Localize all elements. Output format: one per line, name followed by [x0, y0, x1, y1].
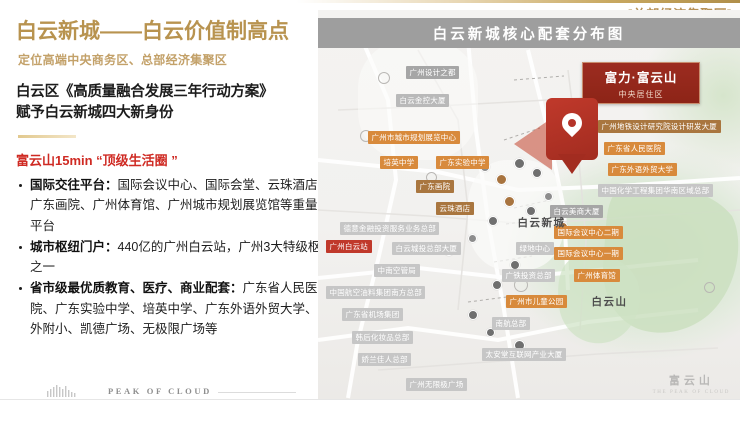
footer-divider: [0, 399, 740, 400]
map-label[interactable]: 广州无限极广场: [406, 378, 467, 391]
policy-statement-line2: 赋予白云新城四大新身份: [16, 103, 342, 124]
map-label[interactable]: 广州设计之都: [406, 66, 459, 79]
map-label[interactable]: 韩后化妆品总部: [352, 331, 413, 344]
map-label[interactable]: 白云山: [588, 294, 631, 310]
map-label[interactable]: 云珠酒店: [436, 202, 474, 215]
map-poi-dot[interactable]: [468, 234, 477, 243]
marker-tail: [558, 154, 586, 174]
map-label[interactable]: 太安堂互联网产业大厦: [482, 348, 566, 361]
mountain-logo-icon: [46, 384, 102, 397]
hero-project-subtitle: 中央居住区: [619, 89, 664, 100]
watermark-title: 富云山: [653, 372, 730, 388]
map-poi-dot[interactable]: [544, 192, 553, 201]
brand-logo: PEAK OF CLOUD: [46, 384, 296, 397]
watermark: 富云山 THE PEAK OF CLOUD: [653, 372, 730, 395]
policy-statement: 白云区《高质量融合发展三年行动方案》 赋予白云新城四大新身份: [16, 82, 342, 124]
map-label[interactable]: 广州体育馆: [574, 269, 620, 282]
page-subtitle: 定位高端中央商务区、总部经济集聚区: [18, 51, 342, 68]
list-item: 省市级最优质教育、医疗、商业配套：广东省人民医院、广东实验中学、培英中学、广东外…: [16, 278, 342, 339]
map-label[interactable]: 广州白云站: [326, 240, 372, 253]
map-label[interactable]: 南航总部: [492, 317, 530, 330]
map-poi-ring[interactable]: [378, 72, 390, 84]
map-label[interactable]: 绿地中心: [516, 242, 554, 255]
list-item: 国际交往平台：国际会议中心、国际会堂、云珠酒店、广东画院、广州体育馆、广州城市规…: [16, 175, 342, 236]
map-label[interactable]: 培英中学: [380, 156, 418, 169]
map-label[interactable]: 中国航空油料集团南方总部: [326, 286, 425, 299]
left-content-column: 白云新城——白云价值制高点 定位高端中央商务区、总部经济集聚区 白云区《高质量融…: [0, 6, 352, 376]
map-label[interactable]: 广州地铁设计研究院设计研发大厦: [598, 120, 721, 133]
feature-bullet-list: 国际交往平台：国际会议中心、国际会堂、云珠酒店、广东画院、广州体育馆、广州城市规…: [16, 175, 342, 339]
map-label[interactable]: 广东画院: [416, 180, 454, 193]
map-label[interactable]: 广东实验中学: [436, 156, 489, 169]
watermark-subtitle: THE PEAK OF CLOUD: [653, 390, 730, 395]
lifecircle-heading: 富云山15min “顶级生活圈 ”: [16, 150, 342, 169]
map-label[interactable]: 白云城投总部大厦: [392, 242, 461, 255]
brand-name: PEAK OF CLOUD: [108, 386, 212, 397]
list-item: 城市枢纽门户：440亿的广州白云站，广州3大特级枢纽之一: [16, 237, 342, 278]
map-label[interactable]: 娇兰佳人总部: [358, 353, 411, 366]
map-label[interactable]: 广州市城市规划展览中心: [368, 131, 460, 144]
map-label[interactable]: 中南空管局: [374, 264, 420, 277]
map-label[interactable]: 广州市儿童公园: [506, 295, 567, 308]
map-panel[interactable]: 富力·富云山 中央居住区 白云新城核心配套分布图 广州设计之都白云金控大厦广州市…: [318, 10, 740, 400]
map-label[interactable]: 德意金融投资服务业务总部: [340, 222, 439, 235]
brand-rule: [218, 392, 296, 393]
page-title: 白云新城——白云价值制高点: [16, 20, 342, 44]
map-label[interactable]: 广东省人民医院: [604, 142, 665, 155]
map-poi-dot[interactable]: [492, 280, 502, 290]
map-label[interactable]: 广铁投资总部: [502, 269, 555, 282]
map-label[interactable]: 中国化学工程集团华南区域总部: [598, 184, 713, 197]
bullet-label: 国际交往平台：: [30, 178, 118, 192]
location-marker[interactable]: [546, 98, 598, 174]
top-gold-rule: [0, 0, 740, 3]
map-poi-dot[interactable]: [468, 310, 478, 320]
map-label[interactable]: 白云金控大厦: [396, 94, 449, 107]
map-label[interactable]: 广东省机场集团: [342, 308, 403, 321]
map-poi-ring[interactable]: [704, 282, 715, 293]
map-poi-dot[interactable]: [488, 216, 498, 226]
bullet-label: 城市枢纽门户：: [30, 240, 118, 254]
slide-canvas: [总部经济集聚区] 白云新城——白云价值制高点 定位高端中央商务区、总部经济集聚…: [0, 0, 740, 421]
map-poi-dot[interactable]: [504, 196, 515, 207]
map-label[interactable]: 白云新城: [514, 215, 569, 231]
map-title: 白云新城核心配套分布图: [433, 23, 626, 44]
hero-project-card[interactable]: 富力·富云山 中央居住区: [582, 62, 700, 104]
hero-project-name: 富力·富云山: [605, 67, 678, 86]
map-label[interactable]: 广东外语外贸大学: [608, 163, 677, 176]
policy-statement-line1: 白云区《高质量融合发展三年行动方案》: [16, 84, 273, 100]
bullet-label: 省市级最优质教育、医疗、商业配套：: [30, 281, 243, 295]
gold-divider: [18, 135, 76, 138]
map-title-bar: 白云新城核心配套分布图: [318, 18, 740, 48]
map-label[interactable]: 国际会议中心一期: [554, 247, 623, 260]
map-poi-dot[interactable]: [496, 174, 507, 185]
